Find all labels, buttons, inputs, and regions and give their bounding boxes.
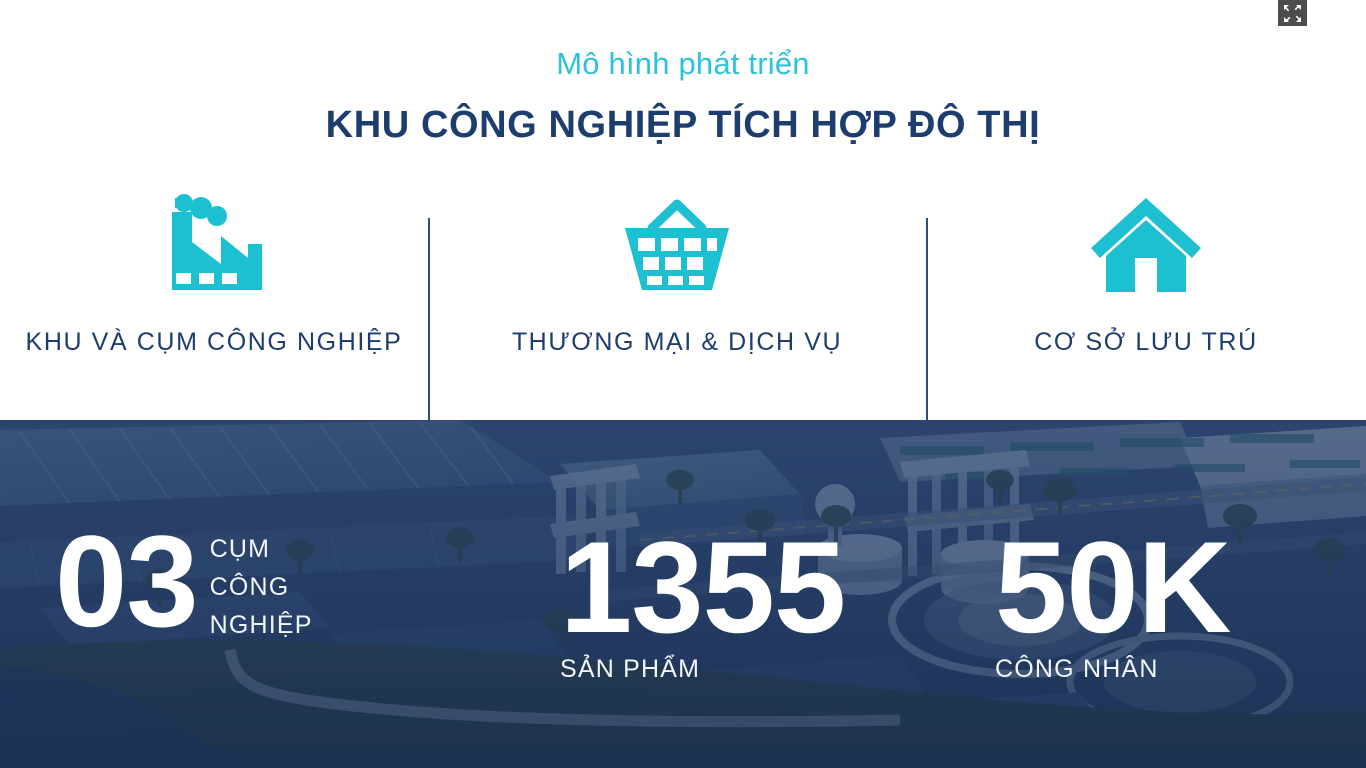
house-icon-glyph — [1089, 196, 1203, 296]
stat-products: 1355 SẢN PHẨM — [560, 530, 845, 688]
factory-icon — [158, 186, 270, 306]
stat-unit-workers: CÔNG NHÂN — [995, 650, 1159, 688]
page-subtitle: Mô hình phát triển — [0, 46, 1366, 82]
page-title: KHU CÔNG NGHIỆP TÍCH HỢP ĐÔ THỊ — [0, 104, 1366, 147]
exit-fullscreen-button[interactable] — [1278, 0, 1307, 26]
feature-label-industrial-zone: KHU VÀ CỤM CÔNG NGHIỆP — [26, 328, 403, 357]
shopping-basket-icon-glyph — [619, 194, 735, 298]
stat-unit-clusters-line2: CÔNG — [210, 568, 313, 606]
feature-label-commerce-services: THƯƠNG MẠI & DỊCH VỤ — [512, 328, 842, 357]
feature-item-commerce-services[interactable]: THƯƠNG MẠI & DỊCH VỤ — [428, 186, 926, 420]
feature-columns: KHU VÀ CỤM CÔNG NGHIỆP — [0, 186, 1366, 420]
feature-label-accommodation: CƠ SỞ LƯU TRÚ — [1034, 328, 1257, 357]
stat-workers: 50K CÔNG NHÂN — [995, 530, 1230, 688]
stat-number-products: 1355 — [560, 530, 845, 644]
stat-unit-clusters-line3: NGHIỆP — [210, 606, 313, 644]
slide-root: Mô hình phát triển KHU CÔNG NGHIỆP TÍCH … — [0, 0, 1366, 768]
stat-unit-clusters: CỤM CÔNG NGHIỆP — [210, 530, 313, 644]
stat-number-clusters: 03 — [55, 524, 198, 638]
exit-fullscreen-icon — [1284, 5, 1301, 22]
header-section: Mô hình phát triển KHU CÔNG NGHIỆP TÍCH … — [0, 0, 1366, 420]
column-divider-1 — [428, 218, 430, 420]
shopping-basket-icon — [619, 186, 735, 306]
stat-industrial-clusters: 03 CỤM CÔNG NGHIỆP — [55, 524, 313, 638]
statistics-section: 03 CỤM CÔNG NGHIỆP 1355 SẢN PHẨM 50K CÔN… — [0, 420, 1366, 768]
factory-icon-glyph — [158, 192, 270, 300]
stat-unit-products: SẢN PHẨM — [560, 650, 700, 688]
stat-unit-clusters-line1: CỤM — [210, 530, 313, 568]
house-icon — [1089, 186, 1203, 306]
feature-item-accommodation[interactable]: CƠ SỞ LƯU TRÚ — [926, 186, 1366, 420]
column-divider-2 — [926, 218, 928, 420]
feature-item-industrial-zone[interactable]: KHU VÀ CỤM CÔNG NGHIỆP — [0, 186, 428, 420]
stat-number-workers: 50K — [995, 530, 1230, 644]
